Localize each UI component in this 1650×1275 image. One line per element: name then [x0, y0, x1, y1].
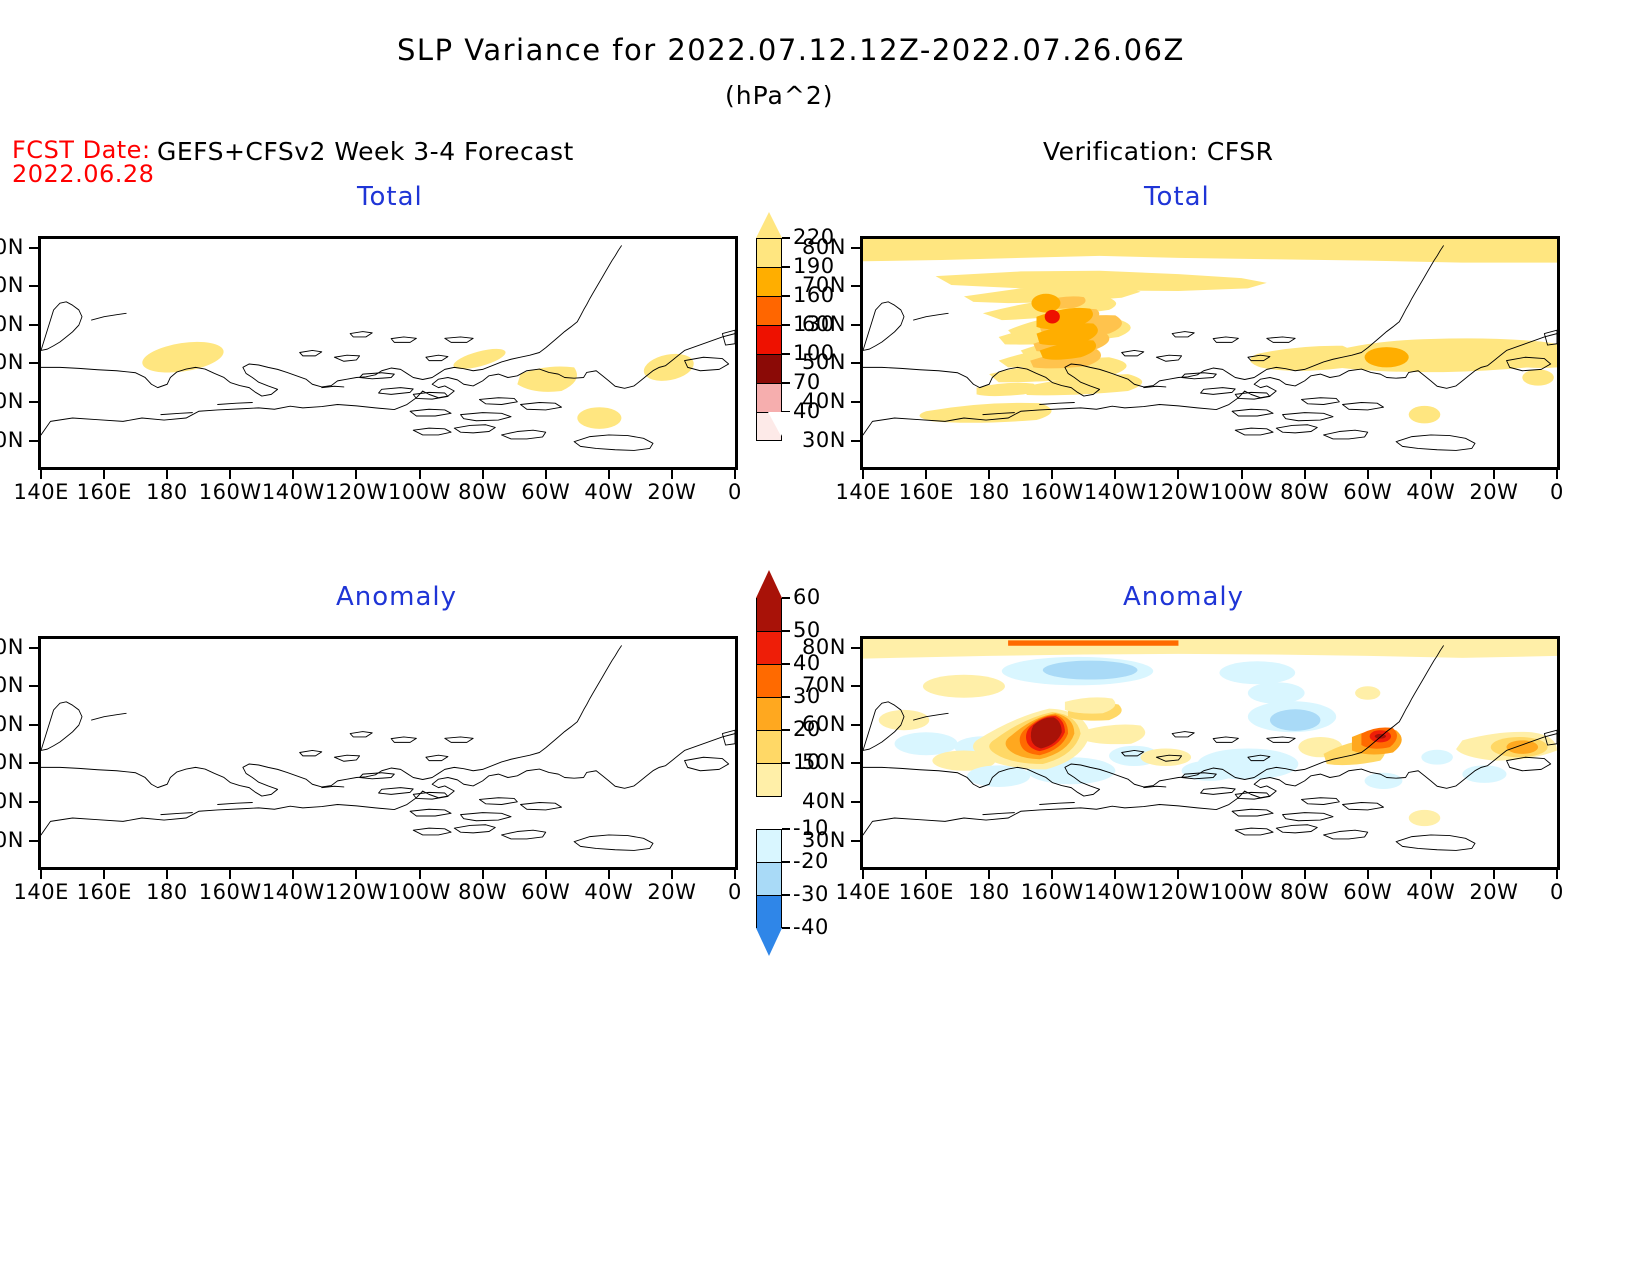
- x-tick-label-forecast-anomaly: 120W: [325, 880, 388, 904]
- x-tick: [292, 470, 294, 479]
- x-tick: [1177, 870, 1179, 879]
- x-tick-label-verification-anomaly: 160E: [899, 880, 954, 904]
- x-tick: [229, 870, 231, 879]
- colorbar-band-frame: [756, 730, 782, 763]
- colorbar-label: 130: [793, 312, 835, 336]
- y-tick-label-forecast-total: 50N: [0, 350, 24, 374]
- colorbar-label: 60: [793, 585, 821, 609]
- x-tick: [862, 470, 864, 479]
- colorbar-tick: [782, 663, 790, 665]
- x-tick: [1241, 470, 1243, 479]
- right-model-label: Verification: CFSR: [1043, 137, 1273, 166]
- colorbar-band-frame: [756, 895, 782, 928]
- x-tick: [862, 870, 864, 879]
- y-tick-label-forecast-total: 60N: [0, 312, 24, 336]
- y-tick: [851, 685, 860, 687]
- x-tick-label-verification-anomaly: 20W: [1469, 880, 1518, 904]
- x-tick-label-verification-total: 0: [1550, 480, 1564, 504]
- colorbar-label: 160: [793, 283, 835, 307]
- colorbar-band-frame: [756, 829, 782, 862]
- y-tick: [29, 801, 38, 803]
- colorbar-tick: [782, 353, 790, 355]
- colorbar-tick: [782, 597, 790, 599]
- y-tick: [851, 762, 860, 764]
- x-tick: [925, 870, 927, 879]
- y-tick: [29, 324, 38, 326]
- colorbar-label: 190: [793, 254, 835, 278]
- colorbar-label: 30: [793, 684, 821, 708]
- x-tick-label-verification-total: 40W: [1406, 480, 1455, 504]
- x-tick-label-verification-total: 80W: [1280, 480, 1329, 504]
- x-tick-label-forecast-anomaly: 80W: [458, 880, 507, 904]
- map-forecast-anomaly[interactable]: [38, 636, 738, 870]
- x-tick-label-forecast-total: 160E: [77, 480, 132, 504]
- y-tick: [29, 840, 38, 842]
- y-tick-label-forecast-total: 30N: [0, 428, 24, 452]
- y-tick: [29, 685, 38, 687]
- colorbar-label: 20: [793, 717, 821, 741]
- coastlines-forecast-anomaly: [41, 646, 735, 851]
- colorbar-tick: [782, 828, 790, 830]
- x-tick: [40, 470, 42, 479]
- y-tick: [29, 401, 38, 403]
- y-tick: [29, 647, 38, 649]
- map-forecast-total[interactable]: [38, 236, 738, 470]
- colorbar-tick: [782, 382, 790, 384]
- x-tick-label-verification-total: 140W: [1084, 480, 1147, 504]
- x-tick: [103, 470, 105, 479]
- y-tick-label-forecast-total: 80N: [0, 235, 24, 259]
- y-tick-label-forecast-anomaly: 60N: [0, 712, 24, 736]
- colorbar-label: -40: [793, 915, 829, 939]
- x-tick-label-verification-total: 100W: [1210, 480, 1273, 504]
- colorbar-stem: [768, 412, 794, 436]
- colorbar-band-frame: [756, 862, 782, 895]
- x-tick: [103, 870, 105, 879]
- x-tick-label-forecast-total: 20W: [647, 480, 696, 504]
- colorbar-tick: [782, 696, 790, 698]
- x-tick-label-verification-anomaly: 120W: [1147, 880, 1210, 904]
- x-tick-label-forecast-anomaly: 160W: [199, 880, 262, 904]
- y-tick: [29, 285, 38, 287]
- colorbar-tick: [782, 295, 790, 297]
- fcst-date-value: 2022.06.28: [12, 160, 154, 188]
- x-tick-label-verification-anomaly: 0: [1550, 880, 1564, 904]
- x-tick: [1367, 870, 1369, 879]
- x-tick: [608, 870, 610, 879]
- x-tick-label-verification-total: 120W: [1147, 480, 1210, 504]
- y-tick-label-forecast-anomaly: 80N: [0, 635, 24, 659]
- colorbar-tick: [782, 324, 790, 326]
- y-tick: [29, 762, 38, 764]
- x-tick-label-verification-anomaly: 180: [968, 880, 1010, 904]
- x-tick-label-verification-anomaly: 160W: [1021, 880, 1084, 904]
- x-tick: [1051, 470, 1053, 479]
- y-tick-label-forecast-anomaly: 50N: [0, 750, 24, 774]
- x-tick-label-verification-anomaly: 140E: [836, 880, 891, 904]
- x-tick-label-verification-total: 160E: [899, 480, 954, 504]
- x-tick-label-forecast-total: 140E: [14, 480, 69, 504]
- y-tick: [851, 840, 860, 842]
- anomaly-colorbar[interactable]: [756, 570, 782, 960]
- y-tick-label-forecast-anomaly: 70N: [0, 673, 24, 697]
- x-tick: [988, 470, 990, 479]
- x-tick-label-forecast-total: 180: [146, 480, 188, 504]
- x-tick-label-verification-anomaly: 60W: [1343, 880, 1392, 904]
- colorbar-tick: [782, 894, 790, 896]
- x-tick: [734, 470, 736, 479]
- x-tick-label-verification-anomaly: 80W: [1280, 880, 1329, 904]
- y-tick: [29, 247, 38, 249]
- y-tick: [851, 401, 860, 403]
- x-tick-label-forecast-anomaly: 60W: [521, 880, 570, 904]
- colorbar-band: [756, 796, 782, 829]
- x-tick: [608, 470, 610, 479]
- y-tick: [29, 440, 38, 442]
- x-tick-label-verification-anomaly: 140W: [1084, 880, 1147, 904]
- panel-title-forecast-anomaly: Anomaly: [336, 582, 457, 612]
- y-tick: [851, 724, 860, 726]
- x-tick: [1367, 470, 1369, 479]
- x-tick: [1430, 870, 1432, 879]
- page-title: SLP Variance for 2022.07.12.12Z-2022.07.…: [397, 33, 1185, 67]
- y-tick-label-forecast-anomaly: 30N: [0, 828, 24, 852]
- x-tick-label-forecast-anomaly: 20W: [647, 880, 696, 904]
- colorbar-tick: [782, 630, 790, 632]
- x-tick-label-forecast-anomaly: 140E: [14, 880, 69, 904]
- map-verification-anomaly[interactable]: [860, 636, 1560, 870]
- colorbar-label: 10: [793, 750, 821, 774]
- y-tick: [851, 647, 860, 649]
- x-tick: [671, 870, 673, 879]
- colorbar-edge: [756, 796, 782, 797]
- x-tick: [1430, 470, 1432, 479]
- y-tick: [851, 247, 860, 249]
- x-tick-label-verification-total: 20W: [1469, 480, 1518, 504]
- colorbar-extend-top: [756, 570, 782, 598]
- x-tick-label-forecast-total: 60W: [521, 480, 570, 504]
- colorbar-extend-top: [756, 212, 782, 238]
- x-tick: [1177, 470, 1179, 479]
- y-tick: [851, 362, 860, 364]
- filled-contours-verification-anomaly: [863, 639, 1557, 826]
- x-tick: [40, 870, 42, 879]
- y-tick-label-verification-total: 30N: [802, 428, 846, 452]
- map-canvas-verification-total: [863, 239, 1557, 467]
- x-tick: [545, 870, 547, 879]
- x-tick-label-forecast-total: 0: [728, 480, 742, 504]
- y-tick: [851, 801, 860, 803]
- x-tick-label-verification-total: 60W: [1343, 480, 1392, 504]
- filled-contours-verification-total: [863, 239, 1557, 423]
- map-verification-total[interactable]: [860, 236, 1560, 470]
- x-tick-label-forecast-total: 40W: [584, 480, 633, 504]
- x-tick-label-verification-anomaly: 40W: [1406, 880, 1455, 904]
- x-tick: [292, 870, 294, 879]
- colorbar-band-frame: [756, 763, 782, 796]
- x-tick: [1114, 470, 1116, 479]
- colorbar-band-frame: [756, 697, 782, 730]
- x-tick-label-forecast-anomaly: 40W: [584, 880, 633, 904]
- x-tick-label-forecast-anomaly: 100W: [388, 880, 451, 904]
- x-tick: [1304, 870, 1306, 879]
- x-tick: [545, 470, 547, 479]
- x-tick-label-forecast-total: 100W: [388, 480, 451, 504]
- colorbar-tick: [782, 762, 790, 764]
- x-tick: [419, 870, 421, 879]
- x-tick: [1051, 870, 1053, 879]
- x-tick: [166, 870, 168, 879]
- map-canvas-verification-anomaly: [863, 639, 1557, 867]
- x-tick: [1304, 470, 1306, 479]
- x-tick: [671, 470, 673, 479]
- map-canvas-forecast-anomaly: [41, 639, 735, 867]
- colorbar-label: 220: [793, 225, 835, 249]
- x-tick-label-forecast-total: 80W: [458, 480, 507, 504]
- y-tick: [29, 362, 38, 364]
- x-tick: [419, 470, 421, 479]
- x-tick: [925, 470, 927, 479]
- colorbar-band-frame: [756, 631, 782, 664]
- panel-title-verification-total: Total: [1144, 182, 1210, 212]
- x-tick: [1556, 870, 1558, 879]
- x-tick: [734, 870, 736, 879]
- y-tick: [851, 285, 860, 287]
- left-model-label: GEFS+CFSv2 Week 3-4 Forecast: [157, 137, 574, 166]
- filled-contours-forecast-total: [141, 337, 696, 429]
- colorbar-tick: [782, 861, 790, 863]
- x-tick: [1556, 470, 1558, 479]
- colorbar-frame: [756, 238, 782, 441]
- x-tick: [166, 470, 168, 479]
- colorbar-tick: [782, 266, 790, 268]
- x-tick-label-forecast-anomaly: 160E: [77, 880, 132, 904]
- colorbar-label: 70: [793, 370, 821, 394]
- y-tick: [851, 440, 860, 442]
- x-tick-label-forecast-anomaly: 140W: [262, 880, 325, 904]
- colorbar-tick: [782, 729, 790, 731]
- y-tick-label-verification-anomaly: 40N: [802, 789, 846, 813]
- x-tick: [988, 870, 990, 879]
- colorbar-label: 40: [793, 399, 821, 423]
- colorbar-band-frame: [756, 664, 782, 697]
- panel-title-verification-anomaly: Anomaly: [1123, 582, 1244, 612]
- colorbar-extend-bottom: [756, 928, 782, 956]
- x-tick: [1241, 870, 1243, 879]
- colorbar-band-frame: [756, 598, 782, 631]
- panel-title-forecast-total: Total: [357, 182, 423, 212]
- y-tick-label-forecast-anomaly: 40N: [0, 789, 24, 813]
- x-tick: [1114, 870, 1116, 879]
- y-tick-label-forecast-total: 40N: [0, 389, 24, 413]
- x-tick-label-verification-total: 180: [968, 480, 1010, 504]
- colorbar-label: -10: [793, 816, 829, 840]
- colorbar-label: -30: [793, 882, 829, 906]
- y-tick: [29, 724, 38, 726]
- x-tick: [1493, 470, 1495, 479]
- y-tick: [851, 324, 860, 326]
- x-tick-label-forecast-anomaly: 0: [728, 880, 742, 904]
- y-tick-label-forecast-total: 70N: [0, 273, 24, 297]
- x-tick-label-verification-anomaly: 100W: [1210, 880, 1273, 904]
- colorbar-tick: [782, 927, 790, 929]
- x-tick-label-forecast-anomaly: 180: [146, 880, 188, 904]
- colorbar-label: 50: [793, 618, 821, 642]
- colorbar-label: -20: [793, 849, 829, 873]
- map-canvas-forecast-total: [41, 239, 735, 467]
- colorbar-edge: [756, 829, 782, 830]
- x-tick-label-forecast-total: 160W: [199, 480, 262, 504]
- colorbar-tick: [782, 237, 790, 239]
- x-tick-label-verification-total: 160W: [1021, 480, 1084, 504]
- x-tick-label-forecast-total: 120W: [325, 480, 388, 504]
- coastlines-forecast-total: [41, 246, 735, 451]
- colorbar-label: 100: [793, 341, 835, 365]
- units-label: (hPa^2): [725, 81, 833, 110]
- x-tick: [482, 470, 484, 479]
- colorbar-label: 40: [793, 651, 821, 675]
- x-tick: [1493, 870, 1495, 879]
- x-tick: [355, 870, 357, 879]
- x-tick: [355, 470, 357, 479]
- x-tick-label-verification-total: 140E: [836, 480, 891, 504]
- x-tick: [482, 870, 484, 879]
- x-tick: [229, 470, 231, 479]
- x-tick-label-forecast-total: 140W: [262, 480, 325, 504]
